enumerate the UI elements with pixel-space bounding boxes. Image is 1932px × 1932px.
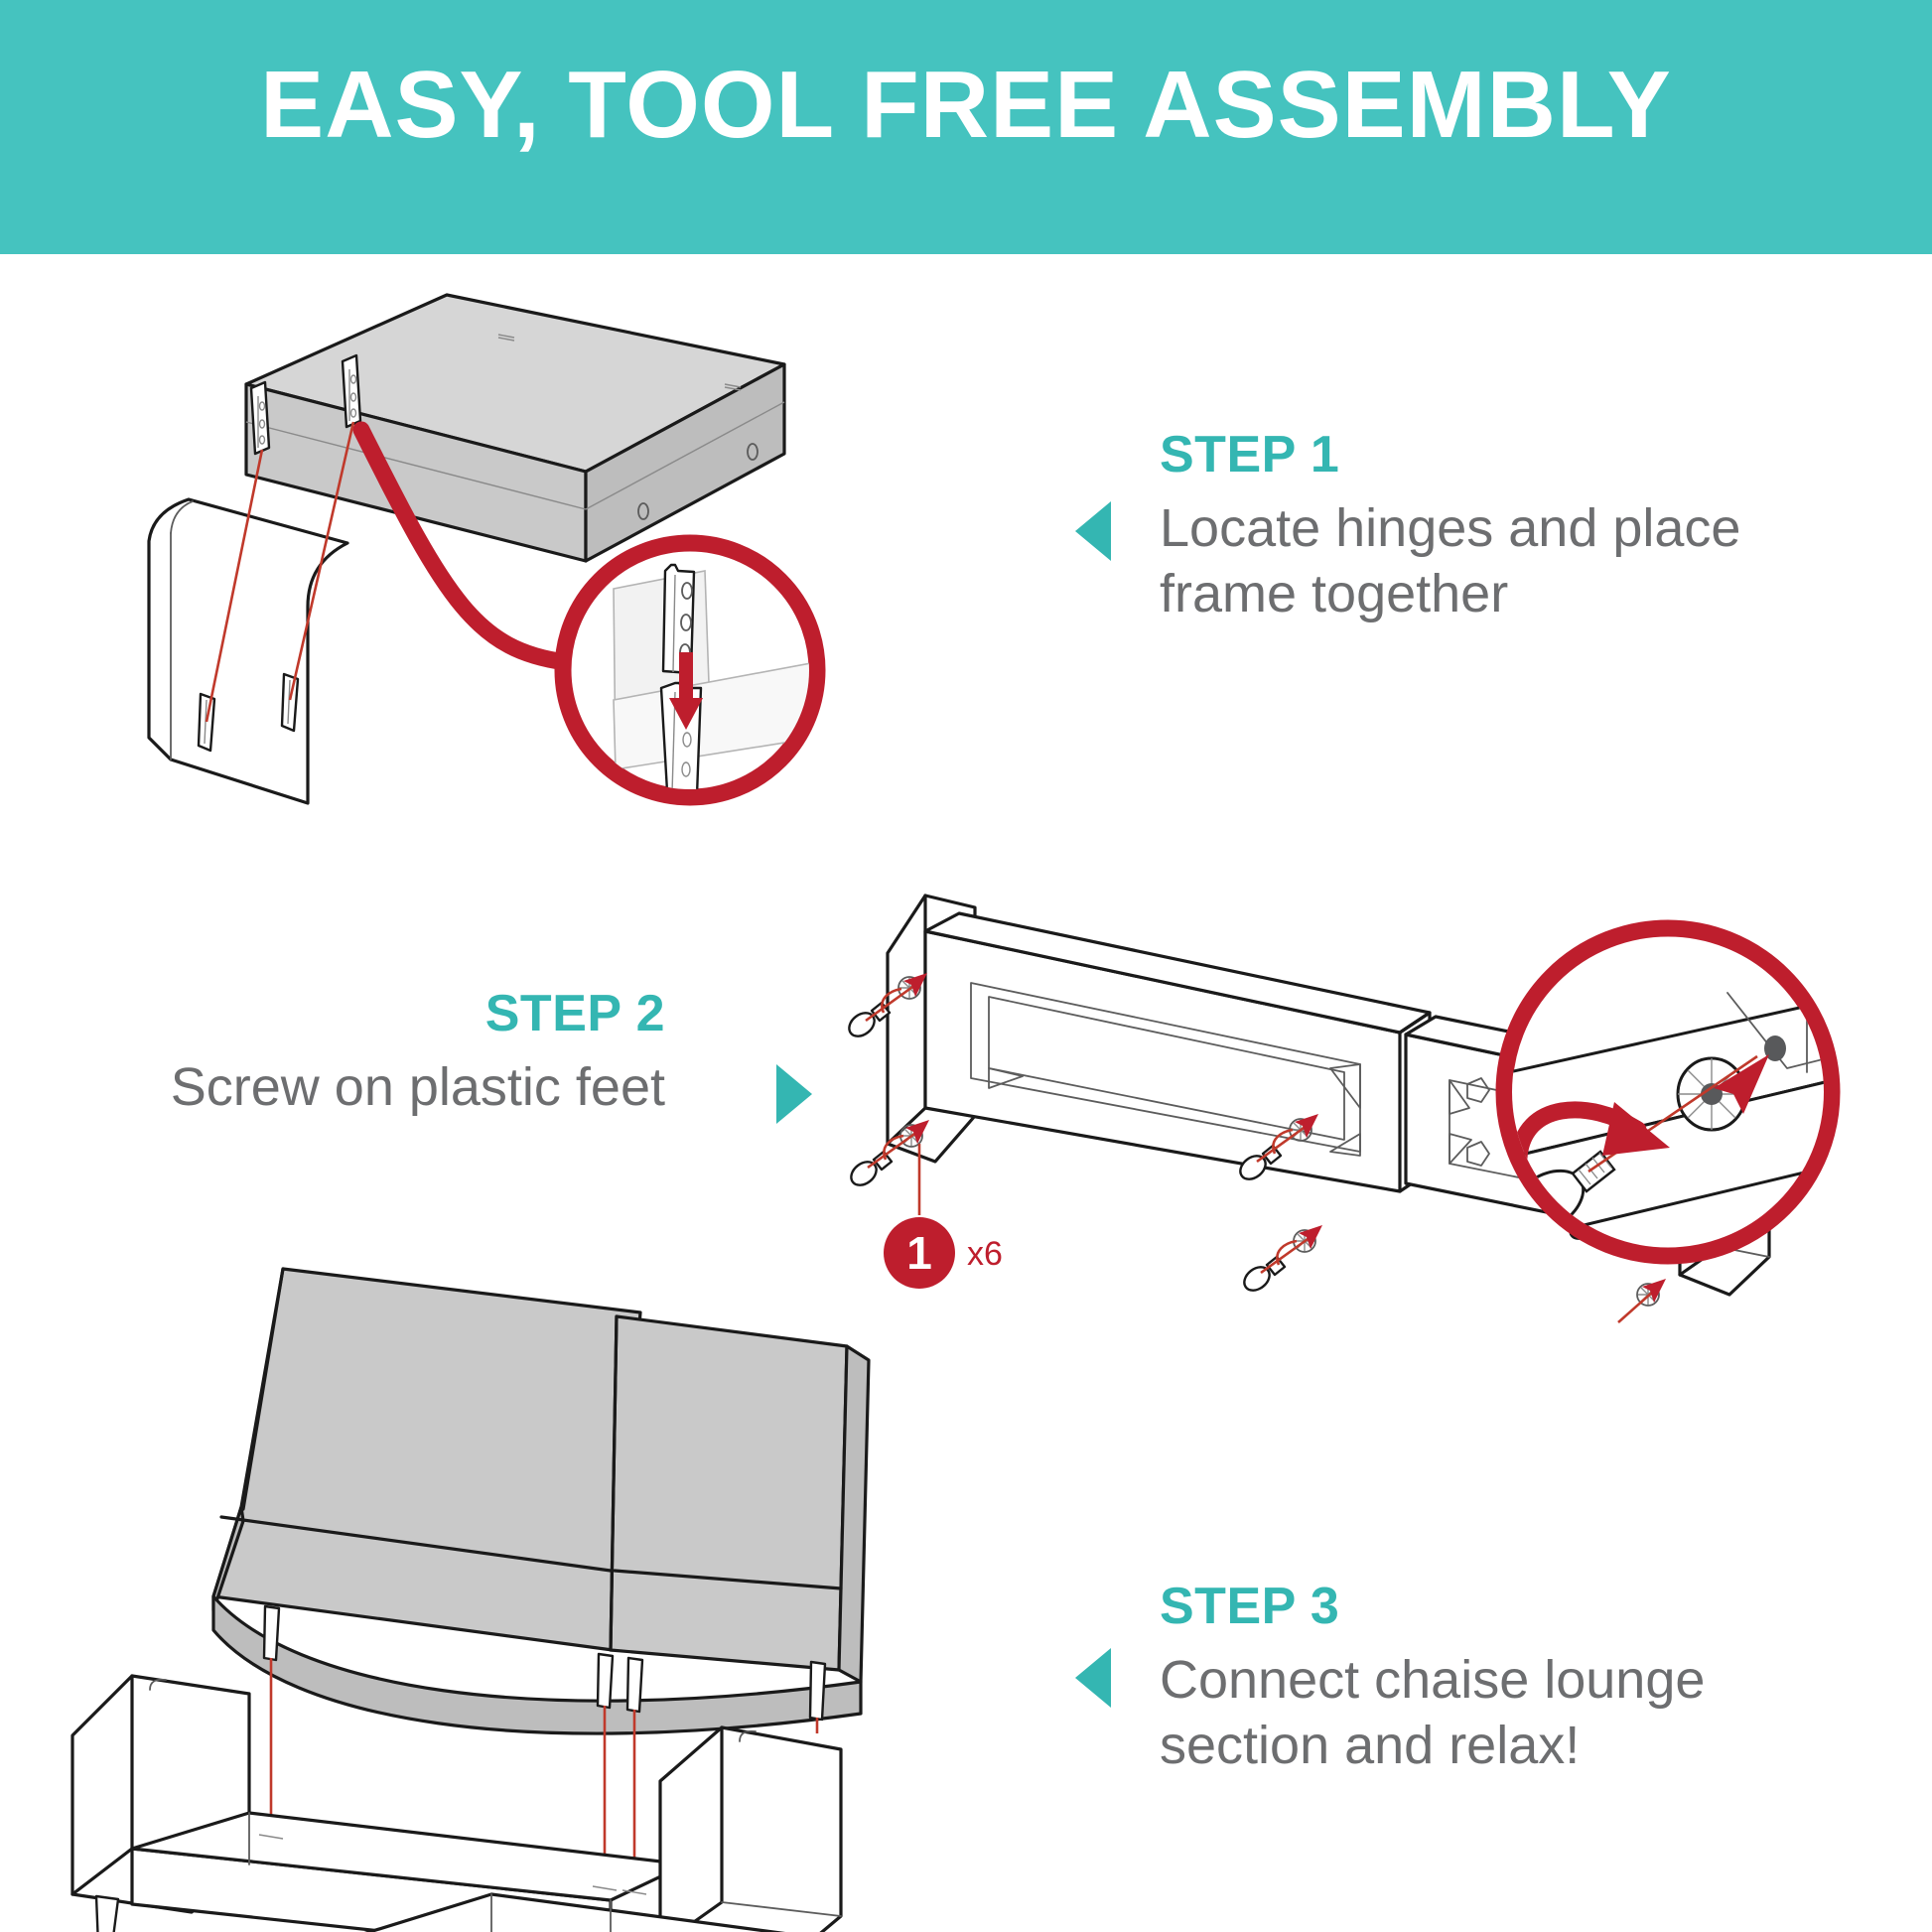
step-1-body: Locate hinges and place frame together [1160,496,1855,627]
plastic-foot [1618,1279,1666,1322]
backrest-panel-white [149,499,347,803]
header-banner: EASY, TOOL FREE ASSEMBLY [0,0,1932,254]
step-2-illustration: 1 x6 [864,874,1932,1311]
backrest-assembly-gray [213,1269,869,1733]
step-3-kicker: STEP 3 [1160,1581,1874,1632]
magnifier-screw-foot-detail [1499,928,1866,1256]
step-1-text-block: STEP 1 Locate hinges and place frame tog… [1160,429,1855,627]
step-1-illustration [149,273,973,829]
step-3-illustration [55,1261,978,1916]
step-3-text-block: STEP 3 Connect chaise lounge section and… [1160,1581,1874,1779]
step-1-kicker: STEP 1 [1160,429,1855,481]
step-3-body: Connect chaise lounge section and relax! [1160,1648,1874,1779]
plastic-foot [1240,1225,1322,1295]
step-2-text-block: STEP 2 Screw on plastic feet [109,988,665,1121]
step-2-body: Screw on plastic feet [109,1055,665,1121]
page-title: EASY, TOOL FREE ASSEMBLY [0,56,1932,156]
seat-box-gray [246,295,784,561]
infographic-page: EASY, TOOL FREE ASSEMBLY [0,0,1932,1932]
frame-main-rail [925,913,1430,1191]
magnifier-hinge-detail [563,543,817,797]
step-1-pointer-triangle [1075,501,1111,561]
step-3-pointer-triangle [1075,1648,1111,1708]
step-2-kicker: STEP 2 [109,988,665,1039]
step-2-pointer-triangle [776,1064,812,1124]
